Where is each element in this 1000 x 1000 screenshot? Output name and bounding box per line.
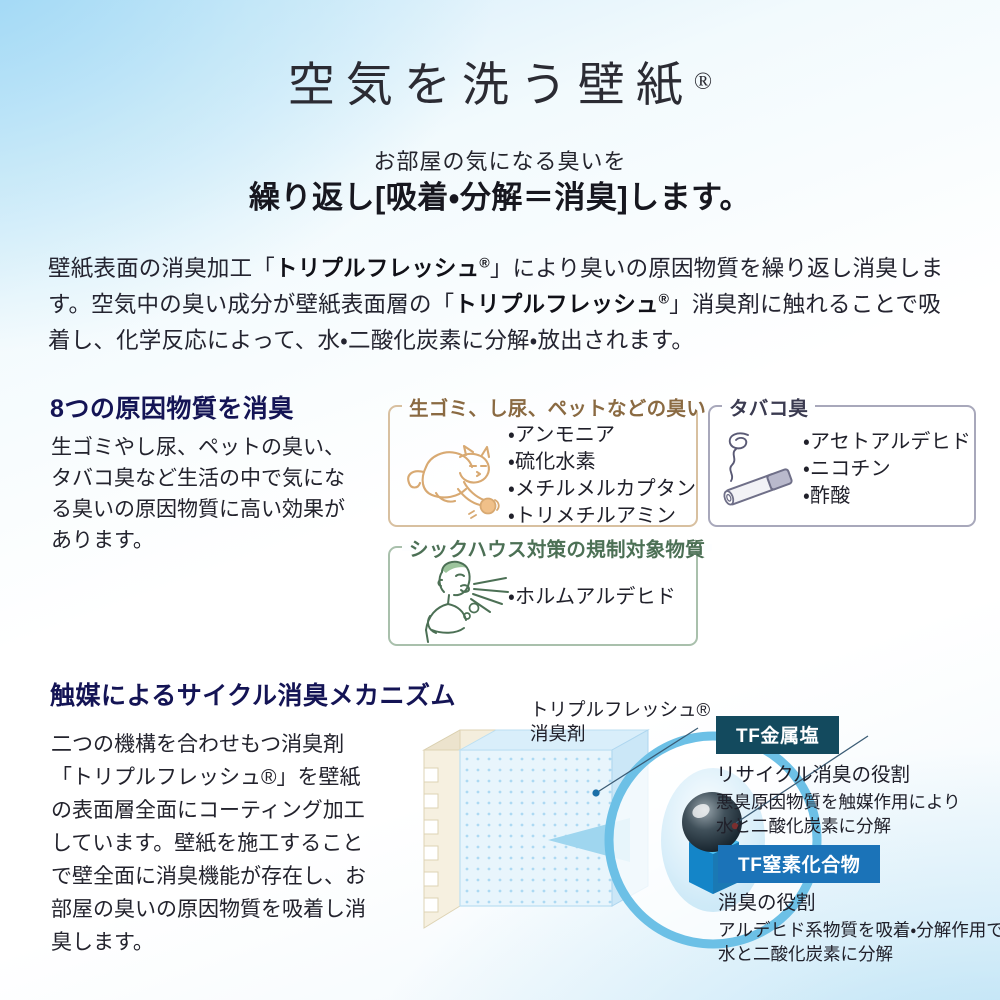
list-item: ・硫化水素 [508, 449, 696, 476]
deodorant-agent-label: トリプルフレッシュ® 消臭剤 [530, 698, 710, 746]
callout-title: 消臭の役割 [718, 886, 1000, 915]
section-body-odor: 生ゴミやし尿、ペットの臭い、タバコ臭など生活の中で気になる臭いの原因物質に高い効… [51, 432, 351, 556]
registered-mark: ® [694, 69, 712, 95]
list-item: ・アンモニア [508, 422, 696, 449]
section-body-mechanism: 二つの機構を合わせもつ消臭剤「トリプルフレッシュ®」を壁紙の表面層全面にコーティ… [51, 728, 381, 959]
brand-registered-mark-1: ® [479, 254, 489, 270]
intro-paragraph: 壁紙表面の消臭加工「トリプルフレッシュ®」により臭いの原因物質を繰り返し消臭しま… [48, 251, 954, 359]
deodorant-agent-label-line1: トリプルフレッシュ® [530, 698, 710, 722]
odor-box-tobacco-items: ・アセトアルデヒド ・ニコチン ・酢酸 [803, 429, 971, 510]
badge-tf-nitrogen-compound: TF窒素化合物 [718, 845, 880, 883]
odor-box-kitchen-legend: 生ゴミ、し尿、ペットなどの臭い [402, 392, 713, 421]
intro-seg-1: 壁紙表面の消臭加工「 [48, 256, 275, 281]
odor-box-tobacco-legend: タバコ臭 [722, 392, 815, 421]
section-heading-mechanism: 触媒によるサイクル消臭メカニズム [50, 676, 456, 712]
brand-name-2: トリプルフレッシュ [454, 292, 658, 317]
list-item: ・ホルムアルデヒド [508, 584, 676, 611]
odor-box-tobacco: タバコ臭 ・アセトアルデヒド ・ニコチン ・酢酸 [708, 405, 976, 527]
deodorant-agent-label-line2: 消臭剤 [530, 722, 710, 746]
badge-tf-metal-salt: TF金属塩 [716, 716, 839, 754]
odor-box-kitchen-items: ・アンモニア ・硫化水素 ・メチルメルカプタン ・トリメチルアミン [508, 422, 696, 530]
odor-box-sickhouse-items: ・ホルムアルデヒド [508, 584, 676, 611]
callout-line: 水と二酸化炭素に分解 [718, 942, 1000, 966]
mechanism-diagram: トリプルフレッシュ® 消臭剤 TF金属塩 リサイクル消臭の役割 悪臭原因物質を触… [398, 690, 1000, 990]
callout-tf-metal-salt: リサイクル消臭の役割 悪臭原因物質を触媒作用により 水と二酸化炭素に分解 [716, 758, 961, 838]
callout-line: 悪臭原因物質を触媒作用により [716, 790, 961, 814]
product-infographic-page: 空気を洗う壁紙® お部屋の気になる臭いを 繰り返し[吸着・分解＝消臭]します。 … [0, 0, 1000, 1000]
odor-box-sickhouse: シックハウス対策の規制対象物質 [388, 546, 698, 646]
callout-line: 水と二酸化炭素に分解 [716, 814, 961, 838]
hero-subtitle-line2: 繰り返し[吸着・分解＝消臭]します。 [0, 172, 1000, 217]
page-title-text: 空気を洗う壁紙 [288, 60, 694, 112]
odor-box-kitchen: 生ゴミ、し尿、ペットなどの臭い [388, 405, 698, 527]
list-item: ・トリメチルアミン [508, 503, 696, 530]
section-heading-odor: 8つの原因物質を消臭 [50, 389, 294, 425]
list-item: ・酢酸 [803, 483, 971, 510]
callout-tf-nitrogen-compound: 消臭の役割 アルデヒド系物質を吸着・分解作用で 水と二酸化炭素に分解 [718, 886, 1000, 966]
callout-line: アルデヒド系物質を吸着・分解作用で [718, 918, 1000, 942]
callout-title: リサイクル消臭の役割 [716, 758, 961, 787]
coughing-man-icon [412, 554, 520, 646]
page-title: 空気を洗う壁紙® [0, 46, 1000, 115]
list-item: ・アセトアルデヒド [803, 429, 971, 456]
brand-name-1: トリプルフレッシュ [275, 256, 479, 281]
list-item: ・メチルメルカプタン [508, 476, 696, 503]
list-item: ・ニコチン [803, 456, 971, 483]
cigarette-icon [718, 425, 802, 513]
cat-icon [400, 427, 510, 519]
brand-registered-mark-2: ® [659, 290, 669, 306]
